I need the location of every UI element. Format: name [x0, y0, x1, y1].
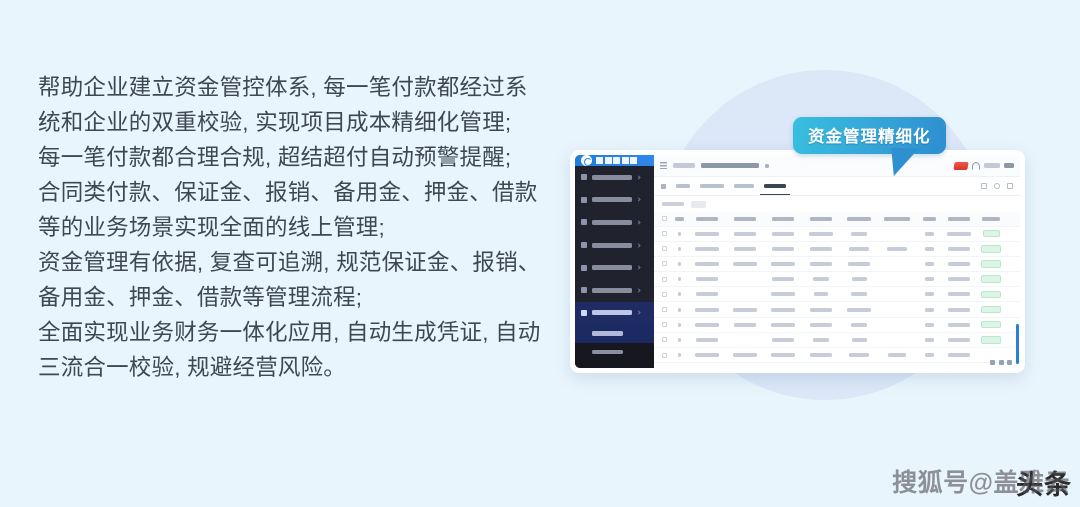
edit-icon[interactable] — [999, 360, 1004, 365]
table-cell-col8 — [942, 277, 976, 281]
app-data-table — [654, 212, 1020, 368]
cell-text — [772, 338, 794, 342]
sidebar-item-label — [592, 310, 632, 315]
sidebar-item-label — [592, 288, 632, 293]
table-row[interactable] — [654, 348, 1020, 363]
cell-text — [695, 353, 719, 357]
user-name-label[interactable] — [984, 163, 1000, 168]
cell-text — [734, 217, 756, 221]
cell-text — [810, 308, 832, 312]
row-checkbox[interactable] — [662, 231, 667, 236]
table-cell-col2 — [726, 353, 764, 357]
table-cell-index — [671, 292, 688, 296]
cell-text — [771, 292, 795, 296]
table-cell-col7 — [916, 323, 942, 327]
cell-text — [772, 217, 794, 221]
table-cell-col3 — [764, 292, 802, 296]
cell-text — [772, 232, 794, 236]
table-cell-status — [976, 230, 1006, 238]
table-cell-col3 — [764, 247, 802, 251]
table-cell-status — [976, 217, 1006, 221]
cell-text — [948, 323, 970, 327]
cell-text — [696, 217, 718, 221]
table-cell-col1 — [688, 323, 726, 327]
table-cell-status — [976, 275, 1006, 283]
table-cell-col4 — [802, 323, 840, 327]
sidebar-item-label — [592, 197, 632, 202]
table-cell-col3 — [764, 323, 802, 327]
sidebar-item-icon — [581, 219, 587, 225]
row-index — [678, 323, 681, 327]
table-cell-col5 — [840, 292, 878, 296]
cell-text — [814, 292, 828, 296]
table-cell-col3 — [764, 338, 802, 342]
table-cell-col5 — [840, 308, 878, 312]
cell-text — [695, 247, 719, 251]
table-row[interactable] — [654, 302, 1020, 317]
table-cell-checkbox[interactable] — [657, 322, 671, 327]
cell-text — [733, 262, 757, 266]
table-cell-checkbox[interactable] — [657, 307, 671, 312]
cell-text — [948, 338, 970, 342]
table-row[interactable] — [654, 257, 1020, 272]
table-cell-index — [671, 262, 688, 266]
table-cell-index — [671, 353, 688, 357]
table-row[interactable] — [654, 242, 1020, 257]
table-cell-col8 — [942, 308, 976, 312]
chevron-right-icon — [636, 243, 640, 247]
table-cell-index — [671, 338, 688, 342]
table-cell-col5 — [840, 353, 878, 357]
cell-text — [734, 232, 756, 236]
cell-text — [695, 323, 719, 327]
status-badge — [983, 230, 1000, 238]
cell-text — [948, 262, 970, 266]
cell-text — [925, 277, 934, 281]
cell-text — [810, 247, 832, 251]
avatar[interactable] — [1004, 163, 1014, 168]
cell-text — [948, 353, 970, 357]
table-cell-col2 — [726, 247, 764, 251]
table-cell-col8 — [942, 217, 976, 221]
row-index — [678, 262, 681, 266]
callout-bubble-wrapper: 资金管理精细化 — [793, 117, 946, 154]
table-cell-col5 — [840, 232, 878, 236]
table-cell-checkbox[interactable] — [657, 277, 671, 282]
cell-text — [810, 262, 832, 266]
tab-2[interactable] — [734, 184, 754, 189]
table-cell-status — [976, 260, 1006, 268]
vertical-scrollbar[interactable] — [1016, 324, 1019, 364]
cell-text — [695, 308, 719, 312]
table-cell-col6 — [878, 217, 916, 221]
table-cell-col3 — [764, 262, 802, 266]
more-icon[interactable] — [1007, 360, 1012, 365]
sidebar-item-3[interactable] — [575, 234, 654, 257]
table-cell-index — [671, 323, 688, 327]
row-index — [678, 232, 681, 236]
tab-1[interactable] — [700, 184, 724, 189]
sidebar-item-5[interactable] — [575, 279, 654, 302]
cell-text — [925, 353, 934, 357]
row-checkbox[interactable] — [662, 337, 667, 342]
table-cell-col1 — [688, 292, 726, 296]
row-checkbox[interactable] — [662, 307, 667, 312]
chevron-right-icon — [636, 175, 640, 179]
table-cell-status — [976, 245, 1006, 253]
table-row[interactable] — [654, 272, 1020, 287]
table-cell-checkbox[interactable] — [657, 353, 671, 358]
marketing-copy-block: 帮助企业建立资金管控体系, 每一笔付款都经过系统和企业的双重校验, 实现项目成本… — [38, 70, 543, 385]
row-checkbox[interactable] — [662, 353, 667, 358]
app-logo[interactable] — [575, 155, 654, 166]
support-headset-icon[interactable] — [972, 162, 980, 170]
cell-text — [884, 217, 910, 221]
row-index — [678, 308, 681, 312]
sidebar-subitem-2[interactable] — [575, 361, 654, 368]
table-cell-col4 — [802, 338, 840, 342]
row-checkbox[interactable] — [662, 277, 667, 282]
status-badge — [981, 245, 1001, 253]
breadcrumb-current[interactable] — [701, 163, 759, 168]
sidebar-item-4[interactable] — [575, 256, 654, 279]
table-cell-status — [976, 336, 1006, 344]
cell-text — [888, 353, 906, 357]
table-cell-index — [671, 247, 688, 251]
cell-text — [851, 292, 867, 296]
table-cell-col4 — [802, 277, 840, 281]
table-cell-col1 — [688, 338, 726, 342]
row-checkbox[interactable] — [662, 216, 667, 221]
status-badge — [981, 260, 1001, 268]
sidebar-item-icon — [581, 310, 587, 316]
row-action-icons — [990, 360, 1012, 365]
table-cell-col5 — [840, 338, 878, 342]
table-cell-col2 — [726, 217, 764, 221]
sidebar-item-icon — [581, 197, 587, 203]
cell-text — [925, 292, 934, 296]
table-row[interactable] — [654, 318, 1020, 333]
table-body — [654, 212, 1020, 363]
row-index — [678, 292, 681, 296]
row-checkbox[interactable] — [662, 261, 667, 266]
app-screenshot-card — [570, 150, 1025, 373]
cell-text — [810, 353, 832, 357]
table-cell-col7 — [916, 262, 942, 266]
table-cell-col4 — [802, 308, 840, 312]
cell-text — [771, 353, 795, 357]
sidebar-subitem-label — [592, 350, 623, 355]
cell-text — [851, 232, 867, 236]
breadcrumb-item[interactable] — [673, 163, 695, 168]
table-cell-col6 — [878, 247, 916, 251]
cell-text — [772, 247, 794, 251]
table-cell-col1 — [688, 262, 726, 266]
table-cell-col3 — [764, 308, 802, 312]
watermark-overlay: 搜狐号@盖雅云 — [892, 471, 1070, 496]
table-cell-col3 — [764, 217, 802, 221]
table-cell-col8 — [942, 247, 976, 251]
cell-text — [848, 262, 870, 266]
sidebar-item-label — [592, 175, 632, 180]
chevron-down-icon[interactable] — [765, 164, 769, 168]
table-cell-checkbox[interactable] — [657, 231, 671, 236]
sidebar-item-2[interactable] — [575, 211, 654, 234]
status-badge — [981, 306, 1001, 314]
table-cell-checkbox[interactable] — [657, 337, 671, 342]
cell-text — [733, 308, 757, 312]
row-checkbox[interactable] — [662, 322, 667, 327]
cell-text — [809, 232, 833, 236]
table-cell-col7 — [916, 338, 942, 342]
cell-text — [771, 308, 795, 312]
callout-bubble: 资金管理精细化 — [793, 117, 946, 154]
cell-text — [852, 338, 867, 342]
cell-text — [734, 323, 756, 327]
app-topbar — [654, 155, 1020, 177]
callout-label: 资金管理精细化 — [808, 128, 931, 146]
table-cell-col3 — [764, 353, 802, 357]
cell-text — [847, 308, 871, 312]
cell-text — [851, 323, 867, 327]
table-cell-col8 — [942, 232, 976, 236]
cell-text — [813, 277, 829, 281]
cloud-logo-icon — [581, 155, 592, 166]
view-icon[interactable] — [990, 360, 995, 365]
table-row[interactable] — [654, 333, 1020, 348]
table-header-row — [654, 212, 1020, 227]
refresh-icon[interactable] — [994, 183, 1000, 189]
app-tab-bar — [654, 177, 1020, 196]
sidebar-item-0[interactable] — [575, 166, 654, 189]
table-cell-col1 — [688, 277, 726, 281]
filter-chip[interactable] — [691, 201, 706, 208]
table-cell-col7 — [916, 277, 942, 281]
marketing-copy-text: 帮助企业建立资金管控体系, 每一笔付款都经过系统和企业的双重校验, 实现项目成本… — [38, 70, 543, 385]
app-sidebar — [575, 155, 654, 368]
table-cell-col2 — [726, 262, 764, 266]
cell-text — [982, 217, 1000, 221]
table-cell-index — [671, 277, 688, 281]
row-checkbox[interactable] — [662, 292, 667, 297]
sidebar-item-label — [592, 265, 632, 270]
tab-0[interactable] — [676, 184, 690, 189]
sidebar-item-label — [592, 243, 632, 248]
cell-text — [925, 247, 934, 251]
table-cell-col4 — [802, 353, 840, 357]
sidebar-item-icon — [581, 174, 587, 180]
cell-text — [695, 232, 719, 236]
cell-text — [925, 323, 934, 327]
table-cell-col5 — [840, 323, 878, 327]
cell-text — [733, 353, 757, 357]
table-cell-checkbox[interactable] — [657, 216, 671, 221]
cell-text — [948, 277, 970, 281]
sidebar-subitem-0[interactable] — [575, 324, 654, 343]
table-cell-checkbox[interactable] — [657, 292, 671, 297]
cell-text — [887, 247, 907, 251]
tab-3[interactable] — [764, 184, 786, 189]
chevron-right-icon — [636, 288, 640, 292]
cell-text — [852, 277, 867, 281]
chevron-right-icon — [636, 311, 640, 315]
table-cell-col3 — [764, 232, 802, 236]
cell-text — [695, 262, 719, 266]
cell-text — [925, 308, 934, 312]
cell-text — [675, 217, 684, 221]
cell-text — [734, 247, 756, 251]
settings-icon[interactable] — [1007, 183, 1013, 189]
table-cell-checkbox[interactable] — [657, 246, 671, 251]
table-cell-status — [976, 321, 1006, 329]
cell-text — [772, 277, 794, 281]
row-index — [678, 247, 681, 251]
table-cell-col4 — [802, 232, 840, 236]
cell-text — [948, 308, 970, 312]
table-cell-col4 — [802, 217, 840, 221]
table-cell-checkbox[interactable] — [657, 261, 671, 266]
chevron-right-icon — [636, 198, 640, 202]
table-cell-col6 — [878, 353, 916, 357]
table-cell-col7 — [916, 232, 942, 236]
table-cell-col8 — [942, 338, 976, 342]
table-cell-col2 — [726, 323, 764, 327]
table-cell-col5 — [840, 247, 878, 251]
cell-text — [849, 247, 869, 251]
table-cell-index — [671, 217, 688, 221]
table-cell-col7 — [916, 353, 942, 357]
table-cell-col4 — [802, 262, 840, 266]
table-cell-col8 — [942, 262, 976, 266]
chevron-right-icon — [636, 266, 640, 270]
sidebar-item-1[interactable] — [575, 189, 654, 212]
table-cell-col2 — [726, 232, 764, 236]
sidebar-item-icon — [581, 265, 587, 271]
back-arrow-icon[interactable] — [661, 184, 666, 189]
table-cell-col8 — [942, 292, 976, 296]
cell-text — [948, 217, 970, 221]
table-cell-index — [671, 308, 688, 312]
table-cell-col1 — [688, 308, 726, 312]
cell-text — [925, 232, 934, 236]
table-cell-col5 — [840, 262, 878, 266]
cell-text — [847, 217, 871, 221]
sidebar-item-icon — [581, 242, 587, 248]
cell-text — [810, 323, 832, 327]
cell-text — [923, 217, 936, 221]
table-cell-col8 — [942, 353, 976, 357]
sidebar-item-label — [592, 220, 632, 225]
app-logo-label — [596, 157, 637, 164]
table-cell-col1 — [688, 247, 726, 251]
cell-text — [947, 232, 971, 236]
status-badge — [981, 321, 1001, 329]
cell-text — [696, 292, 718, 296]
sidebar-subnav-list — [575, 324, 654, 368]
app-filter-bar — [654, 196, 1020, 212]
table-cell-col1 — [688, 217, 726, 221]
status-badge — [981, 275, 1001, 283]
cell-text — [925, 262, 934, 266]
app-screenshot-inner — [575, 155, 1020, 368]
table-cell-col7 — [916, 247, 942, 251]
cell-text — [849, 353, 869, 357]
cell-text — [696, 338, 718, 342]
table-cell-index — [671, 232, 688, 236]
watermark: 头条 搜狐号@盖雅云 — [1016, 472, 1072, 499]
cell-text — [813, 338, 829, 342]
table-cell-col2 — [726, 308, 764, 312]
search-icon[interactable] — [981, 183, 987, 189]
cell-text — [696, 277, 718, 281]
table-cell-status — [976, 306, 1006, 314]
cell-text — [771, 323, 795, 327]
cell-text — [948, 247, 970, 251]
table-cell-col4 — [802, 247, 840, 251]
table-cell-col7 — [916, 292, 942, 296]
app-main-area — [654, 155, 1020, 368]
table-cell-col5 — [840, 217, 878, 221]
filter-label — [662, 202, 684, 206]
sidebar-item-icon — [581, 287, 587, 293]
table-cell-col7 — [916, 217, 942, 221]
row-index — [678, 338, 681, 342]
table-cell-col4 — [802, 292, 840, 296]
table-cell-col7 — [916, 308, 942, 312]
chevron-right-icon — [636, 220, 640, 224]
table-row[interactable] — [654, 227, 1020, 242]
cell-text — [771, 262, 795, 266]
sidebar-subitem-label — [592, 331, 623, 336]
row-checkbox[interactable] — [662, 246, 667, 251]
cell-text — [925, 338, 934, 342]
row-index — [678, 353, 681, 357]
table-cell-col1 — [688, 353, 726, 357]
sidebar-item-6[interactable] — [575, 302, 654, 325]
cell-text — [810, 217, 832, 221]
notification-badge[interactable] — [953, 162, 968, 170]
table-cell-status — [976, 291, 1006, 299]
table-cell-col1 — [688, 232, 726, 236]
row-index — [678, 277, 681, 281]
table-row[interactable] — [654, 287, 1020, 302]
status-badge — [981, 291, 1001, 299]
table-cell-col3 — [764, 277, 802, 281]
table-cell-col5 — [840, 277, 878, 281]
tab-bar-actions — [981, 183, 1013, 189]
topbar-right-group — [954, 162, 1014, 170]
menu-toggle-icon[interactable] — [660, 162, 667, 169]
status-badge — [981, 336, 1001, 344]
sidebar-subitem-1[interactable] — [575, 343, 654, 362]
table-cell-col8 — [942, 323, 976, 327]
cell-text — [948, 292, 970, 296]
sidebar-nav-list — [575, 166, 654, 324]
